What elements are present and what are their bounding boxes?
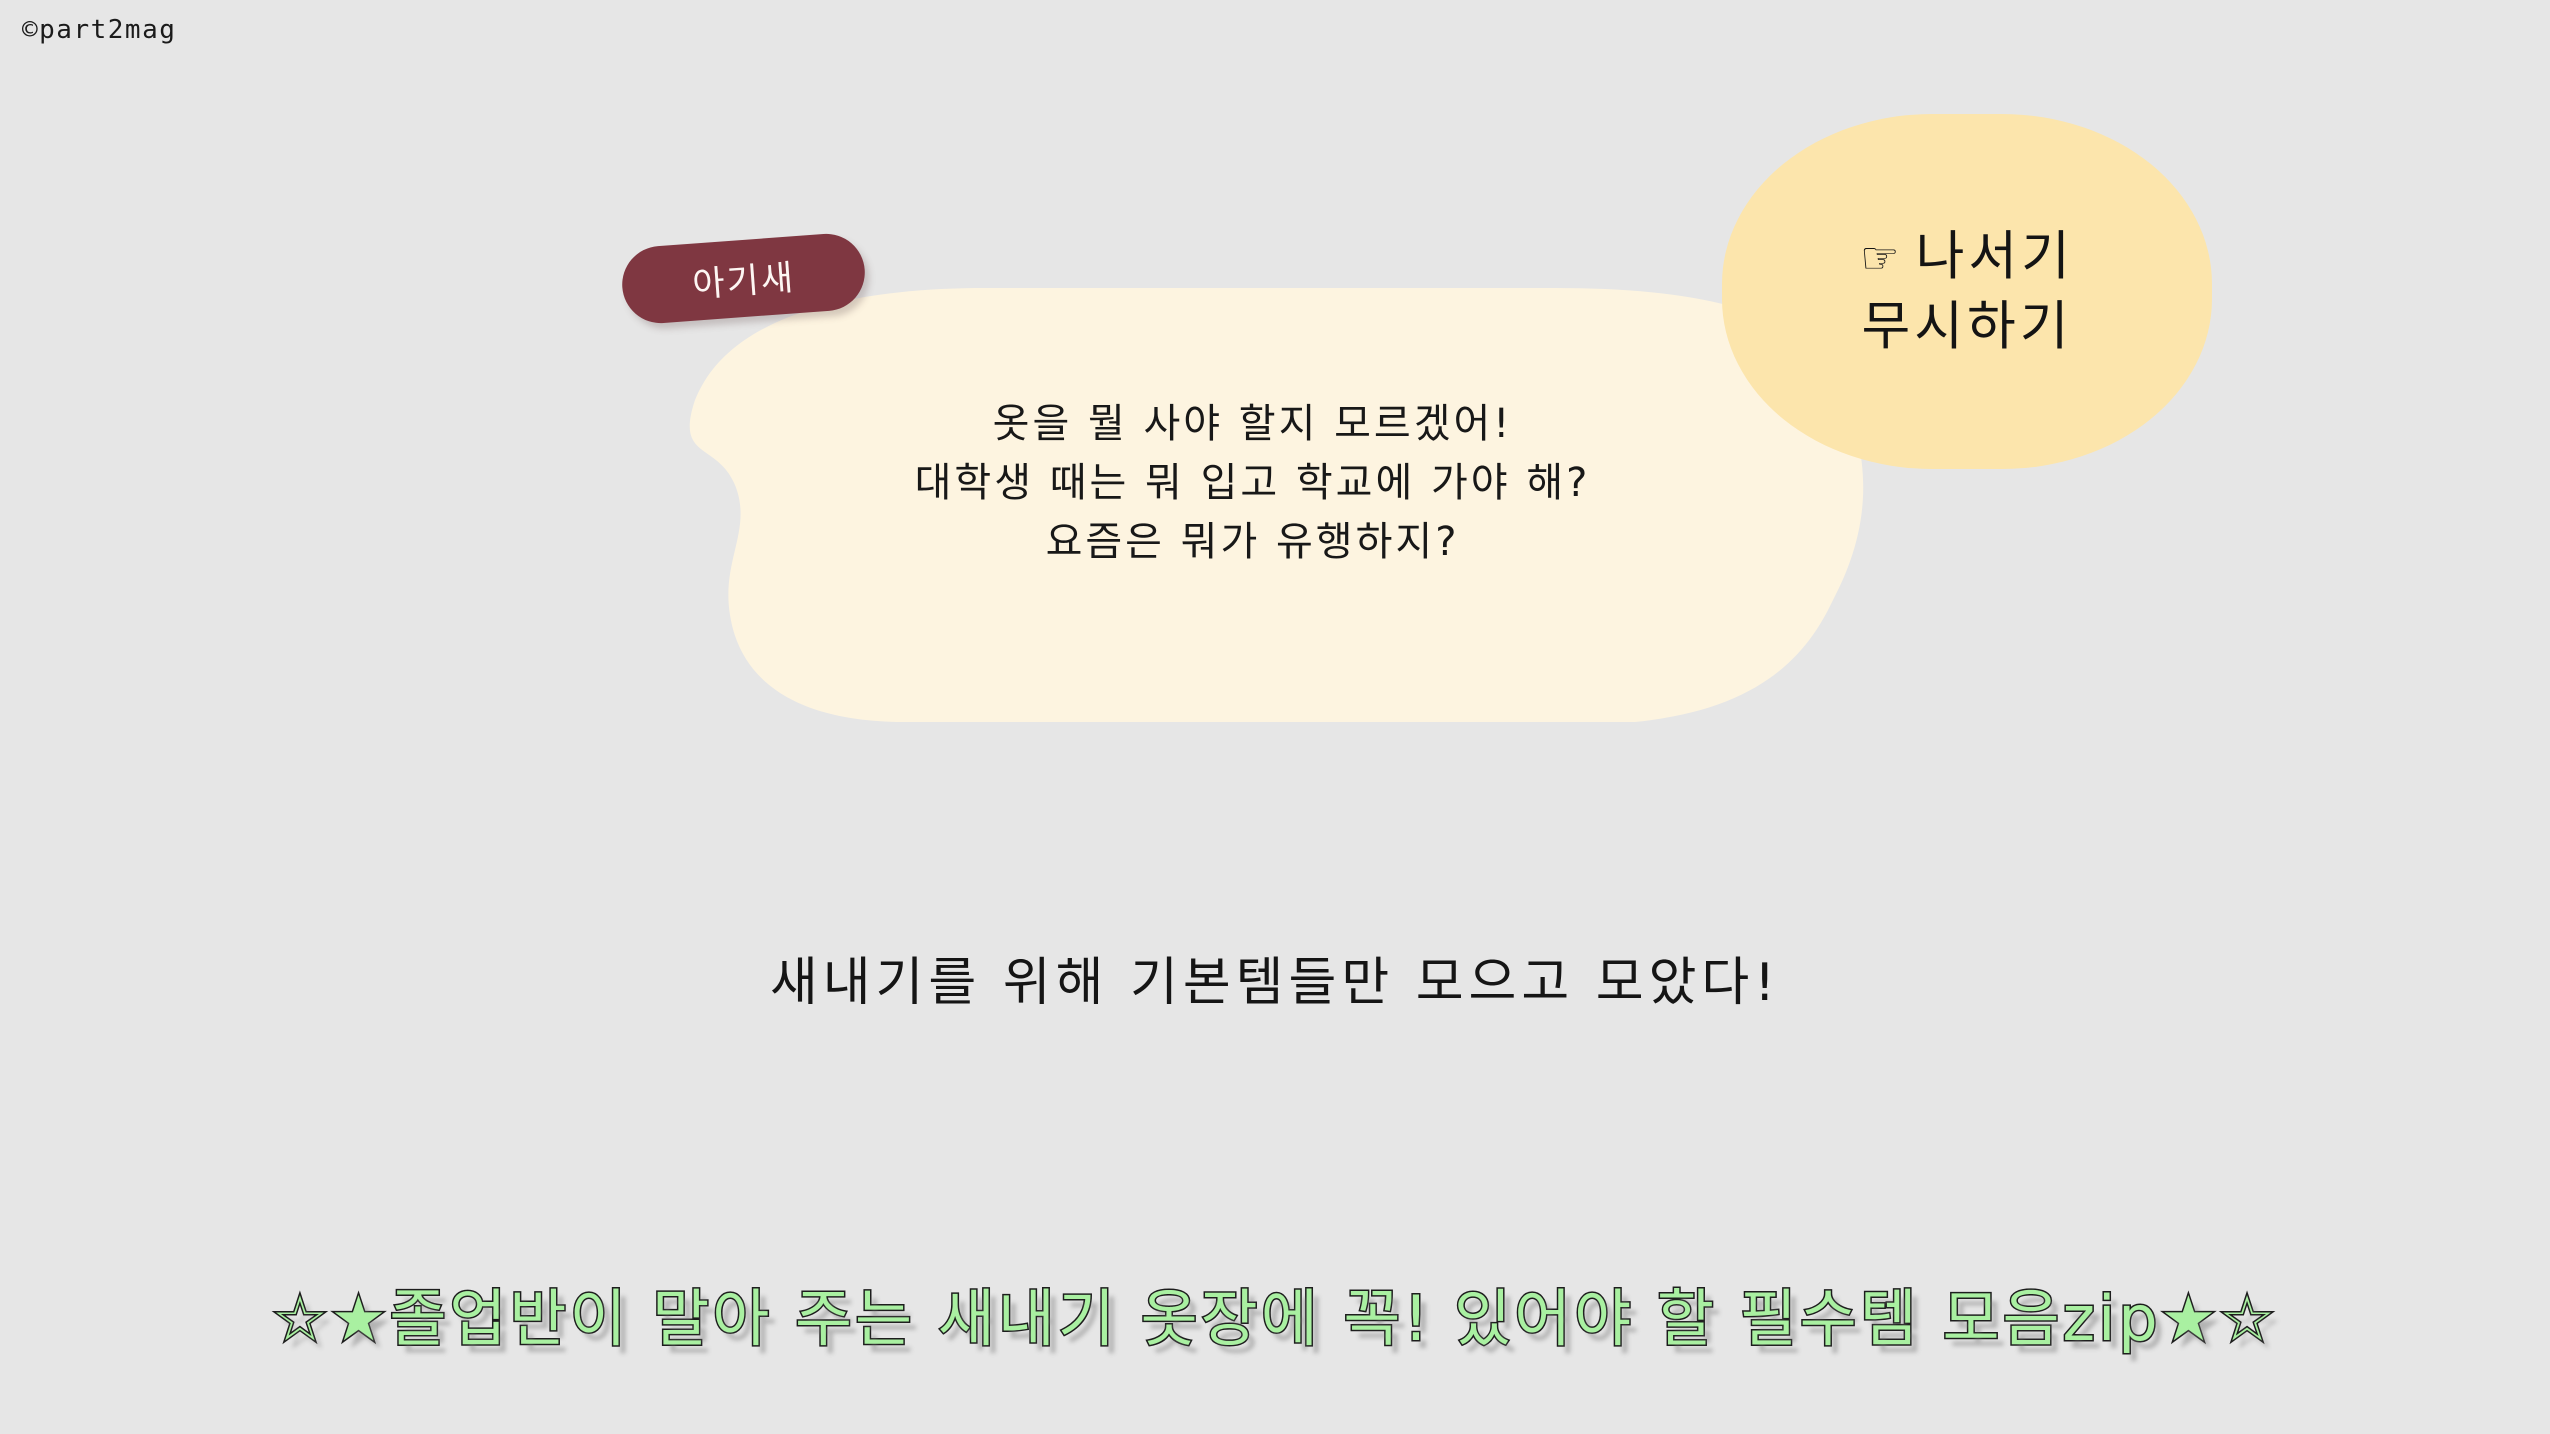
speech-bubble-text: 옷을 뭘 사야 할지 모르겠어! 대학생 때는 뭐 입고 학교에 가야 해? 요… <box>575 395 1930 573</box>
watermark-part2mag: ©part2mag <box>22 15 176 45</box>
choice-option-1: ☞ 나서기 <box>1860 222 2074 292</box>
poster-canvas: ©part2mag 옷을 뭘 사야 할지 모르겠어! 대학생 때는 뭐 입고 학… <box>0 0 2550 1434</box>
speech-line-2: 대학생 때는 뭐 입고 학교에 가야 해? <box>575 454 1930 513</box>
choice-option-2: 무시하기 <box>1861 292 2072 362</box>
choice-option-2-label: 무시하기 <box>1861 292 2072 362</box>
speech-line-3: 요즘은 뭐가 유행하지? <box>575 513 1930 572</box>
tagline-text: 새내기를 위해 기본템들만 모으고 모았다! <box>0 940 2550 1015</box>
headline-text: ☆★졸업반이 말아 주는 새내기 옷장에 꼭! 있어야 할 필수템 모음zip★… <box>0 1268 2550 1358</box>
speech-line-1: 옷을 뭘 사야 할지 모르겠어! <box>575 395 1930 454</box>
choice-option-1-label: 나서기 <box>1916 222 2074 292</box>
speaker-name-label: 아기새 <box>690 249 796 307</box>
pointing-hand-right-icon: ☞ <box>1860 237 1903 281</box>
choice-bubble-yellow: ☞ 나서기 무시하기 <box>1722 114 2212 469</box>
